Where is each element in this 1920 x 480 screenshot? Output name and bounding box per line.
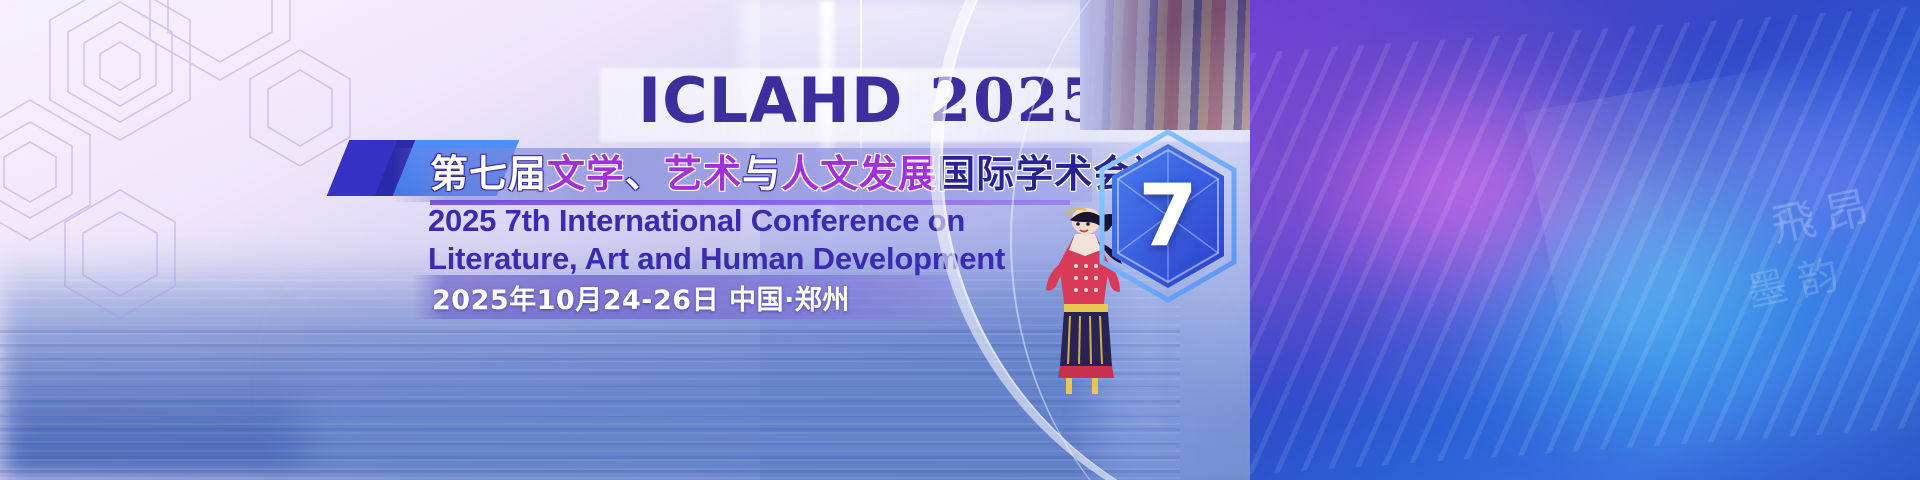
cn-seg-3: 艺术: [664, 155, 742, 193]
cn-seg-1: 文学: [547, 155, 625, 193]
chinese-title: 第七届 文学 、 艺术 与 人文发展 国际学术会议: [430, 146, 1171, 202]
english-subtitle: 2025 7th International Conference on Lit…: [428, 202, 1128, 278]
hexagon-outline-icon: [0, 0, 390, 360]
abstract-blue-photo: [1250, 0, 1920, 480]
cn-seg-2: 、: [625, 155, 664, 193]
photo-left-fade: [1080, 0, 1170, 130]
cn-seg-4: 与: [742, 155, 781, 193]
date-location-text: 2025年10月24-26日 中国·郑州: [432, 276, 850, 318]
conference-year: 2025: [929, 71, 1104, 131]
conference-acronym: ICLAHD: [638, 70, 903, 132]
english-subtitle-line2: Literature, Art and Human Development: [428, 240, 1128, 278]
hexagon-badge-icon: 7: [1088, 128, 1248, 304]
cn-seg-0: 第七届: [430, 155, 547, 193]
english-subtitle-line1: 2025 7th International Conference on: [428, 202, 1128, 240]
cn-seg-5: 人文发展: [781, 155, 937, 193]
main-title: ICLAHD 2025: [638, 63, 1104, 139]
conference-banner: ICLAHD 2025 第七届 文学 、 艺术 与 人文发展 国际学术会议 20…: [0, 0, 1920, 480]
edition-number: 7: [1088, 128, 1248, 304]
